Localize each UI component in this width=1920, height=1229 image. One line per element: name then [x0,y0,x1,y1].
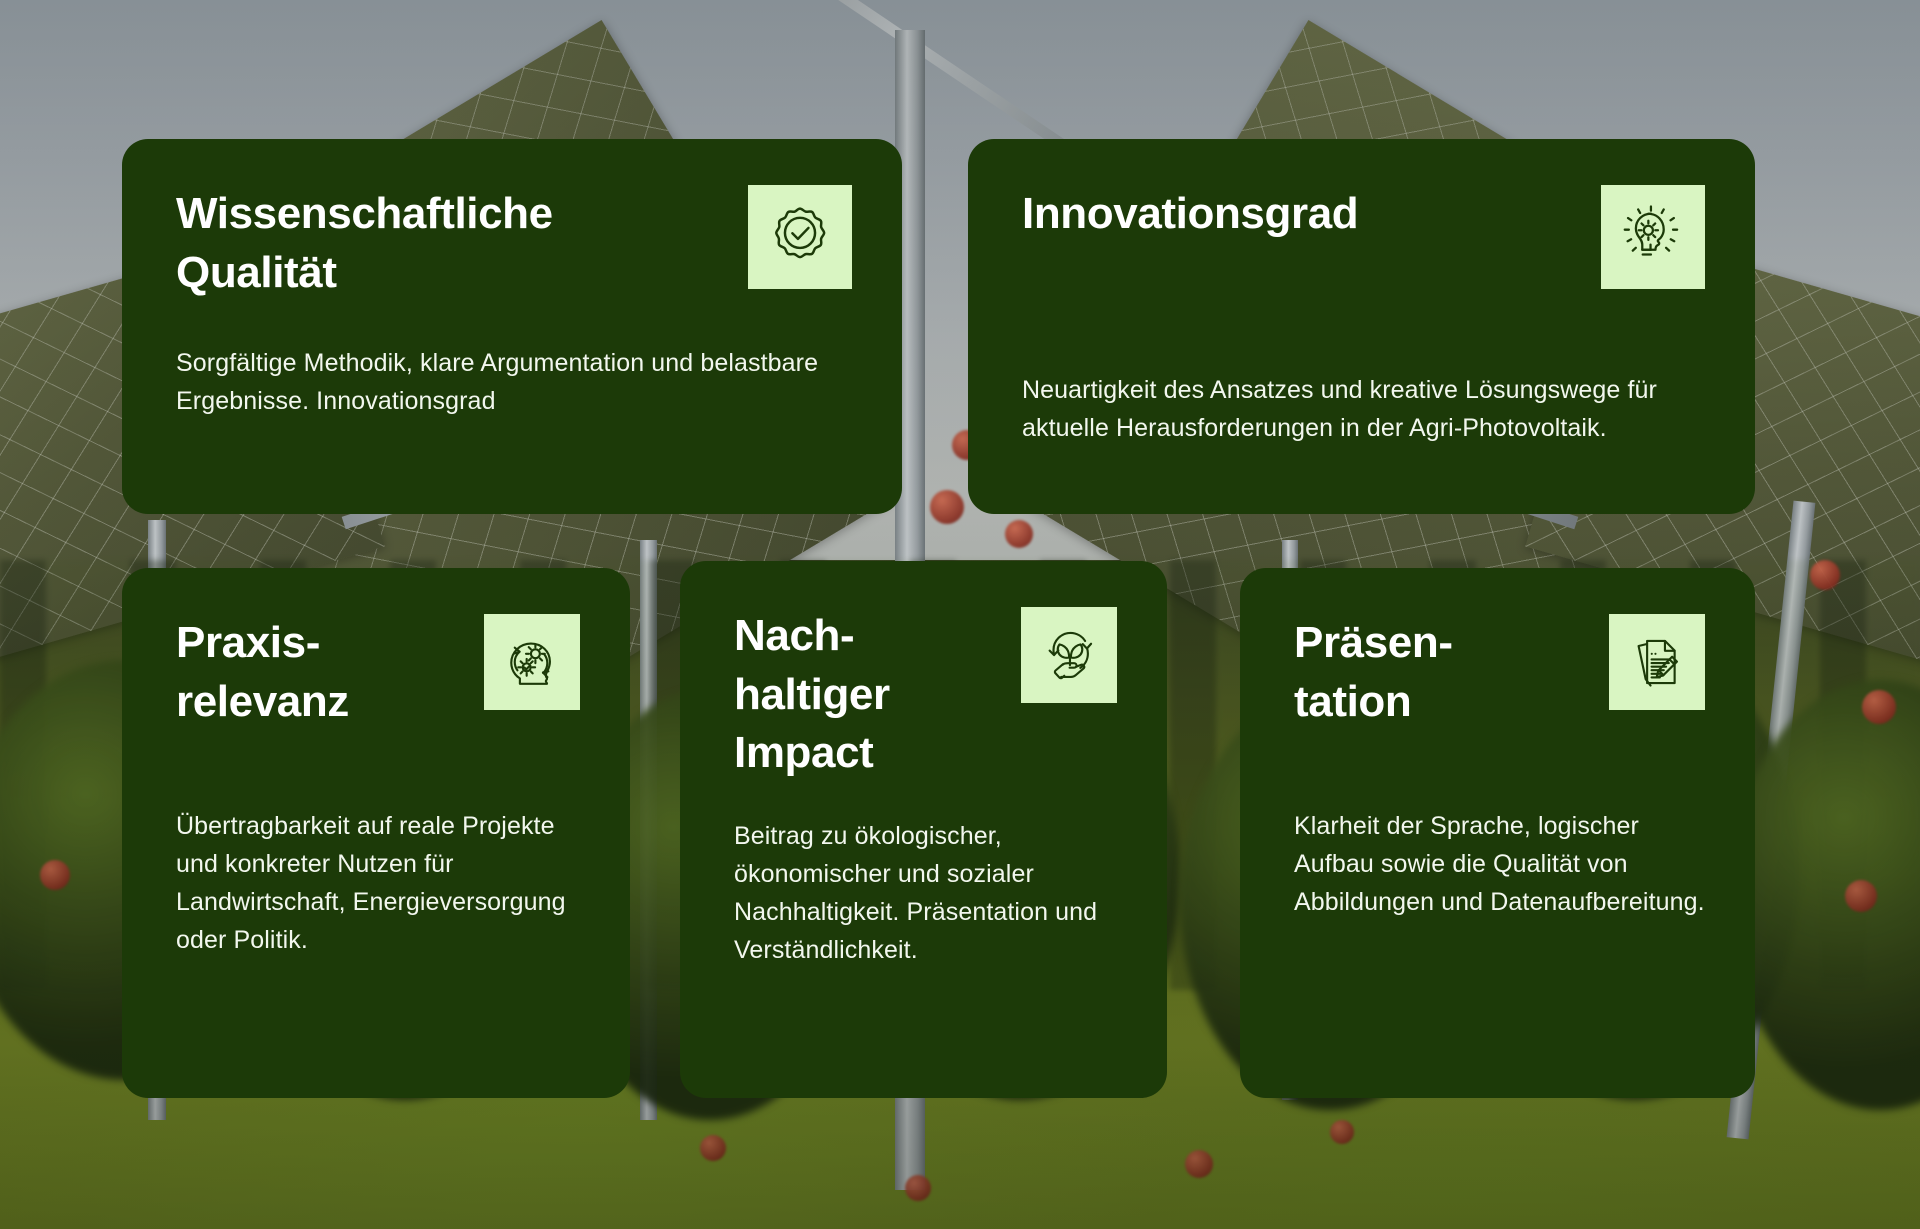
head-gears-cycle-icon [484,614,580,710]
card-body-text: Beitrag zu ökologischer, ökonomischer un… [734,817,1117,969]
card-body-text: Sorgfältige Methodik, klare Argumentatio… [176,344,852,420]
documents-pencil-icon [1609,614,1705,710]
card-body-text: Klarheit der Sprache, logischer Aufbau s… [1294,807,1705,921]
feature-card-grid: Wissenschaftliche Qualität Sorgfältige M… [0,0,1920,1229]
card-title: Innovationsgrad [1022,185,1358,244]
card-title: Wissenschaftliche Qualität [176,185,724,302]
card-title: Nach-haltiger Impact [734,607,964,783]
card-header: Präsen-tation [1294,614,1705,731]
card-wissenschaftliche-qualitaet[interactable]: Wissenschaftliche Qualität Sorgfältige M… [122,139,902,514]
card-innovationsgrad[interactable]: Innovationsgrad Neuartigkeit des Ansatze… [968,139,1755,514]
hand-sprout-cycle-icon [1021,607,1117,703]
card-body-text: Neuartigkeit des Ansatzes und kreative L… [1022,371,1705,447]
card-header: Praxis-relevanz [176,614,580,731]
card-nachhaltiger-impact[interactable]: Nach-haltiger Impact Beitrag zu ökologis… [680,561,1167,1098]
card-header: Wissenschaftliche Qualität [176,185,852,302]
badge-check-icon [748,185,852,289]
card-praesentation[interactable]: Präsen-tation Klarheit der Sprache, logi… [1240,568,1755,1098]
card-header: Innovationsgrad [1022,185,1705,289]
card-title: Präsen-tation [1294,614,1544,731]
card-header: Nach-haltiger Impact [734,607,1117,783]
card-praxisrelevanz[interactable]: Praxis-relevanz [122,568,630,1098]
card-body-text: Übertragbarkeit auf reale Projekte und k… [176,807,580,959]
card-title: Praxis-relevanz [176,614,426,731]
lightbulb-head-gear-icon [1601,185,1705,289]
